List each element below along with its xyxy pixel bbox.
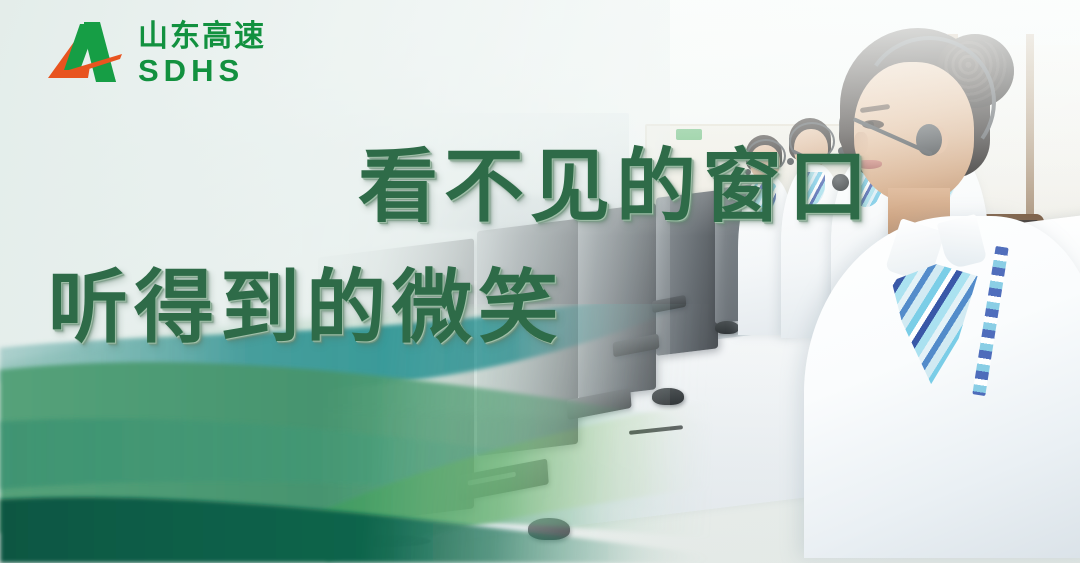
decorative-waves [0, 304, 713, 563]
promo-banner: 山东高速 SDHS 看不见的窗口 听得到的微笑 [0, 0, 1080, 563]
logo-wordmark: 山东高速 SDHS [138, 22, 266, 86]
logo-chinese-name: 山东高速 [138, 22, 266, 52]
logo-english-name: SDHS [138, 55, 266, 86]
sdhs-logo[interactable]: 山东高速 SDHS [44, 18, 266, 90]
sdhs-logo-mark [44, 18, 128, 90]
